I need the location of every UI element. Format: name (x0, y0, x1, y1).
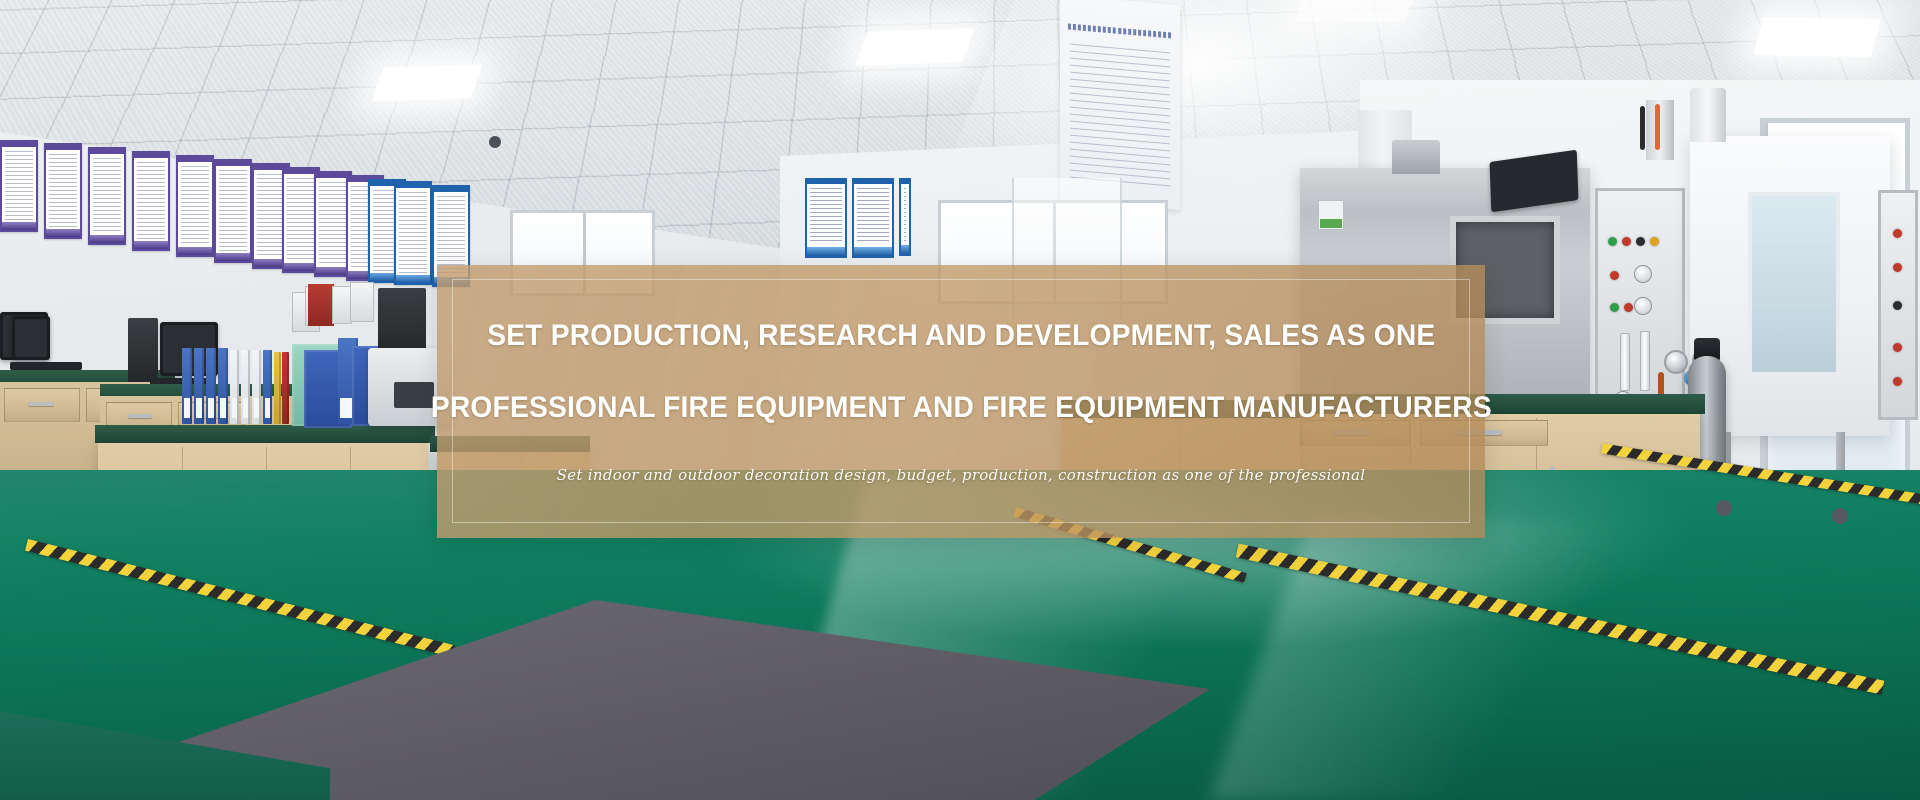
indicator-light-green (1608, 237, 1617, 246)
equipment-cabinet (378, 288, 426, 356)
indicator-light-red (1893, 229, 1902, 238)
indicator-light-red (1893, 377, 1902, 386)
binder (194, 348, 204, 424)
binder (252, 350, 261, 424)
keyboard (10, 362, 82, 370)
ceiling-light (1295, 0, 1416, 22)
indicator-light-green (1610, 303, 1619, 312)
wall-poster (176, 155, 214, 257)
hero-text-block: SET PRODUCTION, RESEARCH AND DEVELOPMENT… (437, 265, 1485, 538)
hero-headline-line-2: PROFESSIONAL FIRE EQUIPMENT AND FIRE EQU… (431, 390, 1492, 426)
ceiling-light (855, 28, 975, 66)
binder (182, 348, 192, 424)
cabinet-window (1748, 192, 1840, 376)
monitor (12, 316, 50, 360)
flow-tube (1640, 331, 1650, 391)
gauge (1634, 265, 1652, 283)
binder (282, 352, 289, 424)
ceiling-light (372, 64, 482, 101)
air-hose (1640, 106, 1645, 150)
smoke-detector-icon (489, 136, 501, 148)
ceiling-light (1753, 17, 1881, 57)
caster-wheel (1716, 500, 1732, 516)
indicator-light-red (1622, 237, 1631, 246)
indicator-light-red (1893, 343, 1902, 352)
wall-poster-bank (0, 115, 470, 245)
caster-wheel (1832, 508, 1848, 524)
drawer-handle (128, 414, 152, 418)
wall-poster (214, 159, 252, 263)
binder (274, 352, 281, 424)
wall-poster (88, 147, 126, 245)
indicator-light-black (1636, 237, 1645, 246)
chamber-vent (1392, 140, 1440, 174)
hero-subtitle: Set indoor and outdoor decoration design… (557, 466, 1366, 486)
wall-poster (394, 181, 432, 285)
equipment-panel (308, 284, 334, 326)
side-control-panel (1878, 190, 1918, 420)
equipment-panel (332, 286, 352, 324)
equipment-panel (350, 282, 374, 322)
equipment-label (1318, 200, 1344, 230)
hero-headline-line-1: SET PRODUCTION, RESEARCH AND DEVELOPMENT… (487, 318, 1435, 354)
binder (263, 350, 272, 424)
indicator-light-black (1893, 301, 1902, 310)
hero-banner: SET PRODUCTION, RESEARCH AND DEVELOPMENT… (0, 0, 1920, 800)
wall-poster (899, 178, 911, 256)
wall-poster (805, 178, 847, 258)
binder (206, 348, 216, 424)
computer-tower (128, 318, 158, 382)
binder (241, 350, 250, 424)
wall-poster (132, 151, 170, 251)
wall-poster (44, 143, 82, 239)
wall-poster (852, 178, 894, 258)
gauge (1634, 297, 1652, 315)
wall-poster (0, 140, 38, 232)
binder (218, 348, 228, 424)
indicator-light-red (1893, 263, 1902, 272)
indicator-light-red (1610, 271, 1619, 280)
flow-tube (1620, 333, 1630, 391)
binder (230, 350, 239, 424)
exhaust-duct (1690, 88, 1726, 142)
drawer-handle (28, 402, 54, 406)
pressure-gauge (1664, 350, 1688, 374)
indicator-light-red (1624, 303, 1633, 312)
air-hose (1655, 104, 1660, 150)
bench-counter (95, 425, 435, 443)
control-panel (1595, 188, 1685, 414)
exhaust-duct (1646, 100, 1674, 160)
indicator-light-amber (1650, 237, 1659, 246)
hero-overlay-panel: SET PRODUCTION, RESEARCH AND DEVELOPMENT… (437, 265, 1485, 538)
